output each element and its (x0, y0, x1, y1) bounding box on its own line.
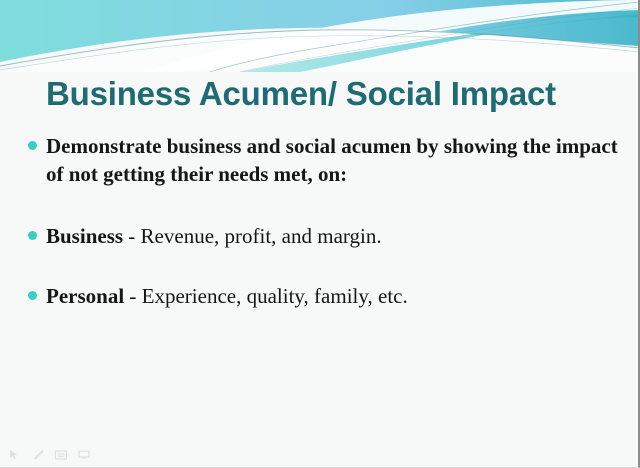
presentation-slide: Business Acumen/ Social Impact Demonstra… (0, 0, 640, 468)
bullet-3-rest: - Experience, quality, family, etc. (124, 284, 408, 308)
bullet-2-rest: - Revenue, profit, and margin. (123, 224, 382, 248)
slideshow-toolbar[interactable] (8, 449, 91, 461)
spacer-1 (28, 192, 620, 222)
spacer-2 (28, 254, 620, 282)
header-wave-decoration (0, 0, 640, 72)
slides-menu-icon[interactable] (54, 449, 68, 461)
bullet-marker-icon (28, 291, 37, 300)
bullet-marker-icon (28, 231, 37, 240)
bullet-2-lead: Business (46, 224, 123, 248)
bullet-text-3: Personal - Experience, quality, family, … (46, 282, 620, 310)
bullet-item-1: Demonstrate business and social acumen b… (28, 132, 620, 188)
bullet-3-lead: Personal (46, 284, 124, 308)
bullet-text-1: Demonstrate business and social acumen b… (46, 132, 620, 188)
bullet-marker-icon (28, 141, 37, 150)
pen-icon[interactable] (31, 449, 45, 461)
pointer-icon[interactable] (8, 449, 22, 461)
display-options-icon[interactable] (77, 449, 91, 461)
bullet-item-2: Business - Revenue, profit, and margin. (28, 222, 620, 250)
slide-body: Demonstrate business and social acumen b… (28, 132, 620, 314)
slide-title: Business Acumen/ Social Impact (46, 74, 606, 114)
bullet-item-3: Personal - Experience, quality, family, … (28, 282, 620, 310)
bullet-text-2: Business - Revenue, profit, and margin. (46, 222, 620, 250)
